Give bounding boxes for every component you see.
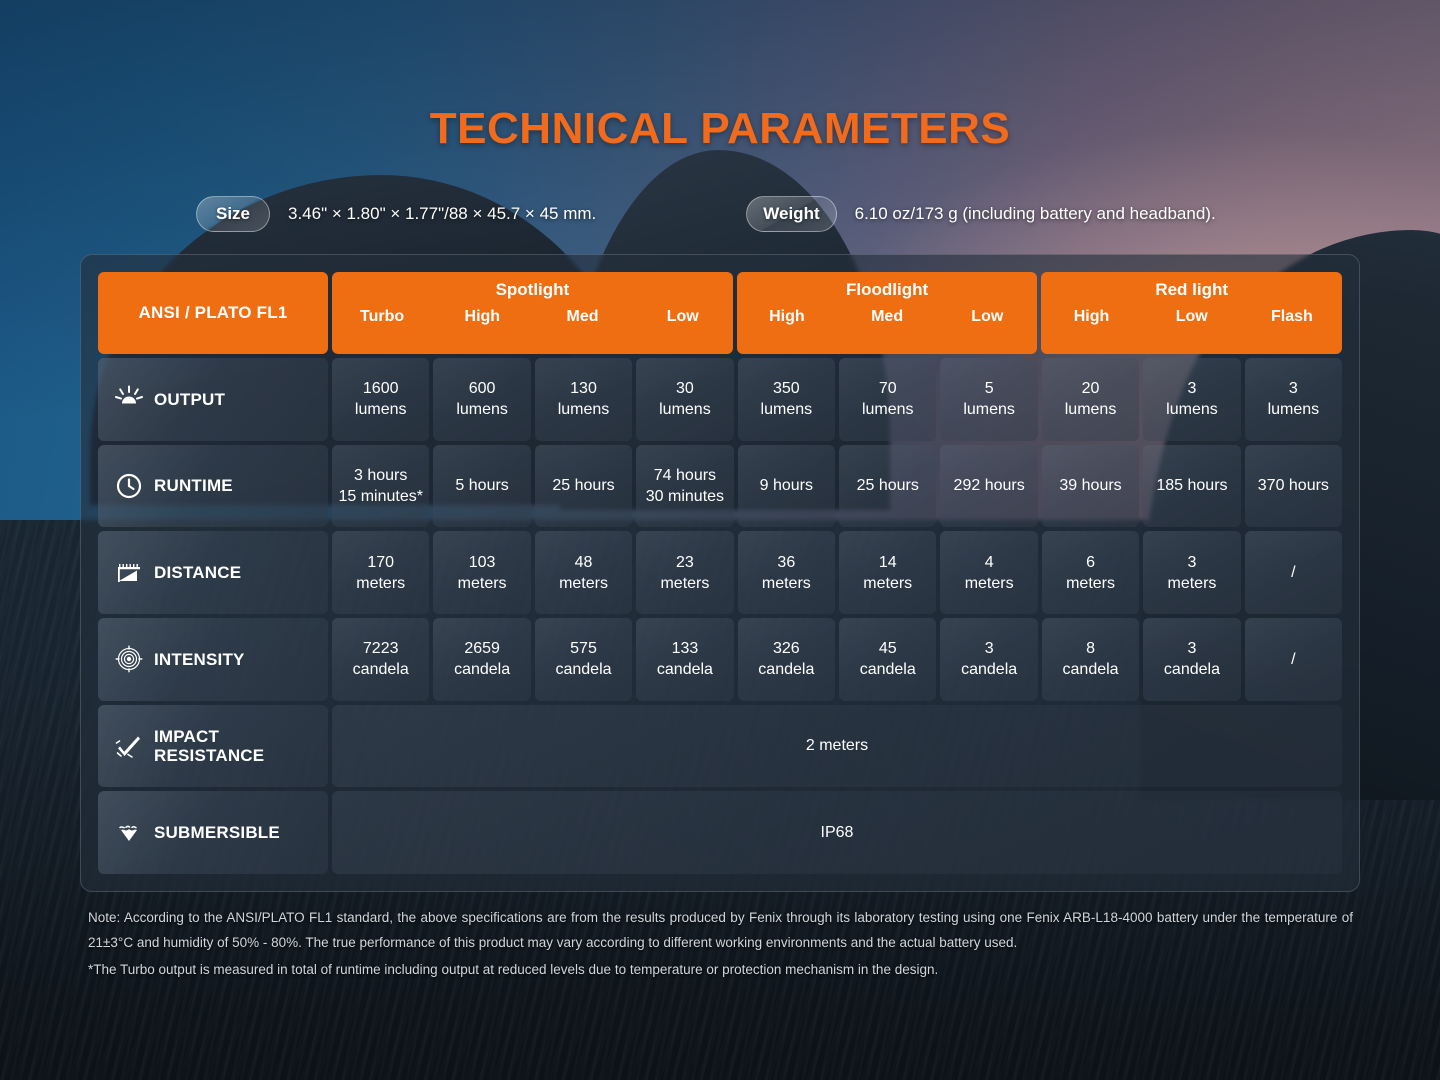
table-row-submersible: SUBMERSIBLE IP68: [98, 791, 1342, 874]
cell-output-spot-med: 130 lumens: [535, 358, 632, 441]
group-title-spotlight: Spotlight: [332, 280, 733, 300]
cell-value: 5 hours: [455, 475, 508, 496]
page-title: TECHNICAL PARAMETERS: [0, 104, 1440, 154]
cell-runtime-spot-high: 5 hours: [433, 445, 530, 528]
cell-unit: meters: [1168, 573, 1217, 594]
cell-unit: lumens: [558, 399, 610, 420]
cell-impact-resistance-merged: 2 meters: [332, 705, 1342, 788]
column-group-floodlight: Floodlight High Med Low: [737, 272, 1038, 354]
cell-value: 5: [985, 378, 994, 399]
cell-value: 74 hours: [654, 465, 716, 486]
clock-icon: [114, 471, 144, 501]
cell-unit: meters: [559, 573, 608, 594]
cell-unit: lumens: [862, 399, 914, 420]
column-header-red-low: Low: [1142, 306, 1242, 354]
cell-runtime-flood-low: 292 hours: [940, 445, 1037, 528]
cell-unit: meters: [863, 573, 912, 594]
group-modes-floodlight: High Med Low: [737, 306, 1038, 354]
cell-runtime-flood-high: 9 hours: [738, 445, 835, 528]
cell-value: 600: [469, 378, 496, 399]
cell-value: 326: [773, 638, 800, 659]
cell-distance-flood-high: 36 meters: [738, 531, 835, 614]
cell-value: 45: [879, 638, 897, 659]
cell-distance-red-low: 3 meters: [1143, 531, 1240, 614]
row-cells-submersible: IP68: [332, 791, 1342, 874]
group-modes-red-light: High Low Flash: [1041, 306, 1342, 354]
cell-intensity-spot-med: 575 candela: [535, 618, 632, 701]
column-header-spot-turbo: Turbo: [332, 306, 432, 354]
cell-value: 1600: [363, 378, 399, 399]
column-header-spot-med: Med: [532, 306, 632, 354]
column-group-red-light: Red light High Low Flash: [1041, 272, 1342, 354]
cell-unit: lumens: [1166, 399, 1218, 420]
table-row-output: OUTPUT 1600 lumens 600 lumens 130 lumens: [98, 358, 1342, 441]
cell-value: /: [1291, 649, 1295, 670]
weight-pill-label: Weight: [746, 196, 836, 232]
row-cells-distance: 170 meters 103 meters 48 meters 23 meter…: [332, 531, 1342, 614]
cell-output-red-low: 3 lumens: [1143, 358, 1240, 441]
cell-value: 70: [879, 378, 897, 399]
row-label-text-distance: DISTANCE: [154, 563, 241, 582]
cell-value: 3: [1188, 638, 1197, 659]
cell-unit: meters: [660, 573, 709, 594]
beam-distance-icon: [114, 558, 144, 588]
cell-output-flood-high: 350 lumens: [738, 358, 835, 441]
cell-value: 25 hours: [552, 475, 614, 496]
cell-value: 39 hours: [1059, 475, 1121, 496]
row-label-output: OUTPUT: [98, 358, 328, 441]
cell-value: 36: [777, 552, 795, 573]
cell-value: 2659: [464, 638, 500, 659]
cell-unit: meters: [1066, 573, 1115, 594]
cell-output-flood-low: 5 lumens: [940, 358, 1037, 441]
row-label-text-submersible: SUBMERSIBLE: [154, 823, 280, 842]
footnote-turbo-asterisk: *The Turbo output is measured in total o…: [88, 957, 1353, 982]
cell-unit: meters: [458, 573, 507, 594]
cell-unit: meters: [965, 573, 1014, 594]
cell-unit: lumens: [659, 399, 711, 420]
cell-value: 30: [676, 378, 694, 399]
cell-value: 130: [570, 378, 597, 399]
cell-intensity-flood-high: 326 candela: [738, 618, 835, 701]
cell-intensity-flood-med: 45 candela: [839, 618, 936, 701]
cell-unit: lumens: [761, 399, 813, 420]
column-group-spotlight: Spotlight Turbo High Med Low: [332, 272, 733, 354]
cell-distance-red-high: 6 meters: [1042, 531, 1139, 614]
cell-submersible-merged: IP68: [332, 791, 1342, 874]
row-label-text-impact-resistance: IMPACT RESISTANCE: [154, 727, 264, 765]
cell-runtime-red-low: 185 hours: [1143, 445, 1240, 528]
row-label-distance: DISTANCE: [98, 531, 328, 614]
column-header-flood-high: High: [737, 306, 837, 354]
sunburst-icon: [114, 384, 144, 414]
row-cells-runtime: 3 hours 15 minutes* 5 hours 25 hours 74 …: [332, 445, 1342, 528]
water-drop-icon: [114, 818, 144, 848]
cell-distance-red-flash: /: [1245, 531, 1342, 614]
cell-unit: 30 minutes: [646, 486, 724, 507]
table-header-row: ANSI / PLATO FL1 Spotlight Turbo High Me…: [98, 272, 1342, 354]
cell-unit: lumens: [963, 399, 1015, 420]
column-header-flood-med: Med: [837, 306, 937, 354]
cell-value: 185 hours: [1156, 475, 1227, 496]
cell-value: 575: [570, 638, 597, 659]
cell-intensity-spot-high: 2659 candela: [433, 618, 530, 701]
cell-value: 170: [367, 552, 394, 573]
cell-value: 3: [1188, 378, 1197, 399]
cell-output-red-flash: 3 lumens: [1245, 358, 1342, 441]
cell-value: 7223: [363, 638, 399, 659]
cell-runtime-flood-med: 25 hours: [839, 445, 936, 528]
cell-output-spot-low: 30 lumens: [636, 358, 733, 441]
column-header-red-high: High: [1041, 306, 1141, 354]
cell-output-spot-turbo: 1600 lumens: [332, 358, 429, 441]
cell-value: 292 hours: [954, 475, 1025, 496]
row-label-intensity: INTENSITY: [98, 618, 328, 701]
cell-intensity-flood-low: 3 candela: [940, 618, 1037, 701]
table-row-intensity: INTENSITY 7223 candela 2659 candela 575 …: [98, 618, 1342, 701]
cell-unit: lumens: [456, 399, 508, 420]
footnote-main: Note: According to the ANSI/PLATO FL1 st…: [88, 905, 1353, 955]
cell-unit: candela: [1063, 659, 1119, 680]
cell-value: 25 hours: [857, 475, 919, 496]
cell-distance-spot-med: 48 meters: [535, 531, 632, 614]
cell-value: 133: [672, 638, 699, 659]
cell-value: 48: [575, 552, 593, 573]
group-title-floodlight: Floodlight: [737, 280, 1038, 300]
cell-intensity-red-high: 8 candela: [1042, 618, 1139, 701]
cell-value: 3: [1188, 552, 1197, 573]
column-header-spot-low: Low: [633, 306, 733, 354]
row-cells-output: 1600 lumens 600 lumens 130 lumens 30 lum…: [332, 358, 1342, 441]
cell-distance-flood-low: 4 meters: [940, 531, 1037, 614]
cell-value: 103: [469, 552, 496, 573]
cell-intensity-spot-low: 133 candela: [636, 618, 733, 701]
cell-unit: meters: [762, 573, 811, 594]
impact-resistance-icon: [114, 731, 144, 761]
cell-distance-flood-med: 14 meters: [839, 531, 936, 614]
cell-unit: 15 minutes*: [338, 486, 423, 507]
cell-value: 3 hours: [354, 465, 407, 486]
cell-value: 14: [879, 552, 897, 573]
row-label-text-intensity: INTENSITY: [154, 650, 245, 669]
cell-unit: candela: [454, 659, 510, 680]
column-header-spot-high: High: [432, 306, 532, 354]
cell-value: 370 hours: [1258, 475, 1329, 496]
cell-runtime-spot-turbo: 3 hours 15 minutes*: [332, 445, 429, 528]
cell-unit: candela: [758, 659, 814, 680]
table-row-runtime: RUNTIME 3 hours 15 minutes* 5 hours 25 h…: [98, 445, 1342, 528]
column-header-red-flash: Flash: [1242, 306, 1342, 354]
table-row-distance: DISTANCE 170 meters 103 meters 48 meters: [98, 531, 1342, 614]
cell-value: 8: [1086, 638, 1095, 659]
row-label-text-runtime: RUNTIME: [154, 476, 233, 495]
row-label-submersible: SUBMERSIBLE: [98, 791, 328, 874]
row-label-text-output: OUTPUT: [154, 390, 225, 409]
cell-runtime-spot-low: 74 hours 30 minutes: [636, 445, 733, 528]
cell-runtime-red-flash: 370 hours: [1245, 445, 1342, 528]
table-row-impact-resistance: IMPACT RESISTANCE 2 meters: [98, 705, 1342, 788]
cell-distance-spot-high: 103 meters: [433, 531, 530, 614]
group-title-red-light: Red light: [1041, 280, 1342, 300]
cell-intensity-red-flash: /: [1245, 618, 1342, 701]
cell-output-flood-med: 70 lumens: [839, 358, 936, 441]
cell-value: 3: [985, 638, 994, 659]
weight-value: 6.10 oz/173 g (including battery and hea…: [855, 204, 1216, 224]
cell-output-spot-high: 600 lumens: [433, 358, 530, 441]
row-label-impact-resistance: IMPACT RESISTANCE: [98, 705, 328, 788]
cell-unit: candela: [1164, 659, 1220, 680]
cell-value: 6: [1086, 552, 1095, 573]
cell-unit: candela: [555, 659, 611, 680]
cell-value: 4: [985, 552, 994, 573]
cell-unit: candela: [353, 659, 409, 680]
cell-value: 20: [1082, 378, 1100, 399]
cell-value: 350: [773, 378, 800, 399]
cell-distance-spot-turbo: 170 meters: [332, 531, 429, 614]
size-pill-label: Size: [196, 196, 270, 232]
cell-value: /: [1291, 562, 1295, 583]
cell-unit: candela: [657, 659, 713, 680]
cell-value: 9 hours: [760, 475, 813, 496]
page-content: TECHNICAL PARAMETERS Size 3.46" × 1.80" …: [0, 0, 1440, 1080]
column-header-flood-low: Low: [937, 306, 1037, 354]
group-modes-spotlight: Turbo High Med Low: [332, 306, 733, 354]
cell-distance-spot-low: 23 meters: [636, 531, 733, 614]
cell-unit: lumens: [1065, 399, 1117, 420]
cell-intensity-spot-turbo: 7223 candela: [332, 618, 429, 701]
cell-output-red-high: 20 lumens: [1042, 358, 1139, 441]
specifications-panel: ANSI / PLATO FL1 Spotlight Turbo High Me…: [80, 254, 1360, 892]
cell-intensity-red-low: 3 candela: [1143, 618, 1240, 701]
cell-value: 3: [1289, 378, 1298, 399]
cell-unit: meters: [356, 573, 405, 594]
table-corner-header: ANSI / PLATO FL1: [98, 272, 328, 354]
target-intensity-icon: [114, 644, 144, 674]
cell-unit: candela: [860, 659, 916, 680]
footnotes: Note: According to the ANSI/PLATO FL1 st…: [88, 905, 1353, 982]
specifications-table: ANSI / PLATO FL1 Spotlight Turbo High Me…: [98, 272, 1342, 874]
cell-value: 23: [676, 552, 694, 573]
cell-runtime-spot-med: 25 hours: [535, 445, 632, 528]
cell-unit: lumens: [355, 399, 407, 420]
row-label-runtime: RUNTIME: [98, 445, 328, 528]
row-cells-intensity: 7223 candela 2659 candela 575 candela 13…: [332, 618, 1342, 701]
cell-unit: lumens: [1268, 399, 1320, 420]
weight-spec: Weight 6.10 oz/173 g (including battery …: [746, 196, 1215, 232]
size-spec: Size 3.46" × 1.80" × 1.77"/88 × 45.7 × 4…: [196, 196, 596, 232]
header-groups: Spotlight Turbo High Med Low Floodlight …: [332, 272, 1342, 354]
cell-unit: candela: [961, 659, 1017, 680]
spec-summary-strip: Size 3.46" × 1.80" × 1.77"/88 × 45.7 × 4…: [196, 196, 1216, 232]
row-cells-impact-resistance: 2 meters: [332, 705, 1342, 788]
cell-runtime-red-high: 39 hours: [1042, 445, 1139, 528]
size-value: 3.46" × 1.80" × 1.77"/88 × 45.7 × 45 mm.: [288, 204, 596, 224]
